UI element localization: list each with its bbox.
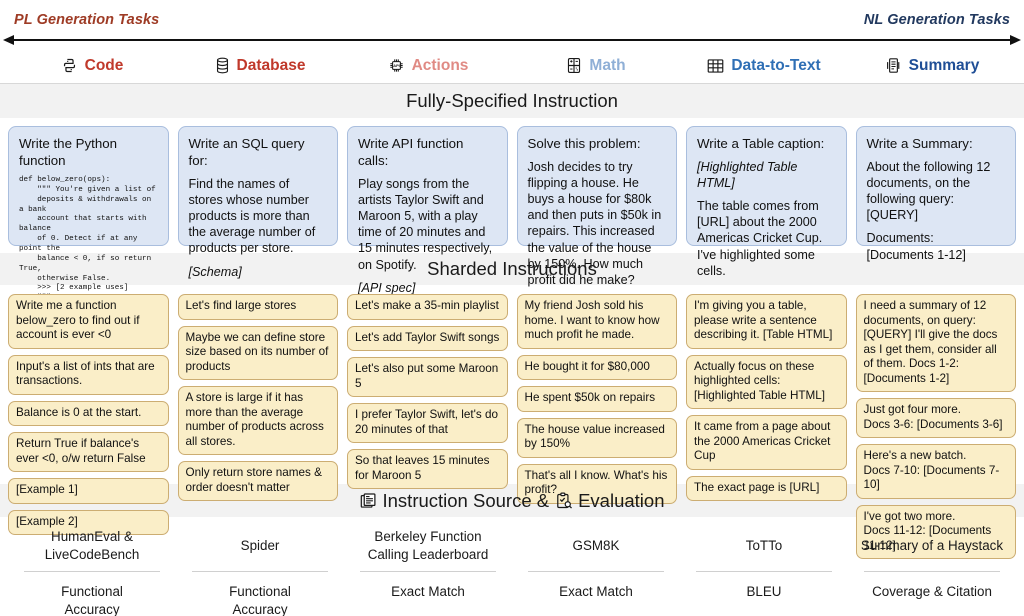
column-header-data-to-text[interactable]: Data-to-Text bbox=[680, 48, 848, 83]
sharded-col-database: Let's find large storesMaybe we can defi… bbox=[178, 294, 339, 476]
shard-bubble[interactable]: So that leaves 15 minutes for Maroon 5 bbox=[347, 449, 508, 489]
sharded-col-code: Write me a function below_zero to find o… bbox=[8, 294, 169, 476]
evaluation-metric: Functional Accuracy bbox=[20, 572, 164, 616]
column-label-summary: Summary bbox=[909, 57, 980, 75]
section-title-evaluation: Evaluation bbox=[578, 490, 664, 512]
shard-bubble[interactable]: Here's a new batch. Docs 7-10: [Document… bbox=[856, 444, 1017, 499]
shard-bubble[interactable]: Only return store names & order doesn't … bbox=[178, 461, 339, 501]
section-title-sharded: Sharded Instructions bbox=[427, 258, 597, 280]
sharded-grid: Write me a function below_zero to find o… bbox=[0, 285, 1024, 484]
column-header-actions[interactable]: API Actions bbox=[344, 48, 512, 83]
evaluation-metric: BLEU bbox=[692, 572, 836, 601]
column-label-code: Code bbox=[85, 57, 124, 75]
instruction-card[interactable]: Solve this problem: Josh decides to try … bbox=[517, 126, 678, 246]
shard-bubble[interactable]: Let's add Taylor Swift songs bbox=[347, 326, 508, 352]
evaluation-metric: Exact Match bbox=[524, 572, 668, 601]
database-icon bbox=[215, 57, 230, 74]
fs-col-data-to-text: Write a Table caption: [Highlighted Tabl… bbox=[686, 126, 847, 246]
section-title-fully-specified: Fully-Specified Instruction bbox=[406, 90, 618, 112]
sharded-col-summary: I need a summary of 12 documents, on que… bbox=[856, 294, 1017, 476]
card-body-line: About the following 12 documents, on the… bbox=[867, 159, 1006, 223]
section-title-instruction-source: Instruction Source & bbox=[383, 490, 550, 512]
shard-bubble[interactable]: I need a summary of 12 documents, on que… bbox=[856, 294, 1017, 392]
axis-label-pl: PL Generation Tasks bbox=[14, 12, 159, 28]
calculator-icon bbox=[566, 57, 582, 74]
shard-bubble[interactable]: Write me a function below_zero to find o… bbox=[8, 294, 169, 349]
shard-bubble[interactable]: Actually focus on these highlighted cell… bbox=[686, 355, 847, 410]
eval-col-code: HumanEval & LiveCodeBench Functional Acc… bbox=[8, 523, 176, 616]
shard-bubble[interactable]: Balance is 0 at the start. bbox=[8, 401, 169, 427]
instruction-source: HumanEval & LiveCodeBench bbox=[20, 523, 164, 569]
axis-label-nl: NL Generation Tasks bbox=[864, 12, 1010, 28]
eval-col-math: GSM8K Exact Match bbox=[512, 523, 680, 616]
clipboard-check-search-icon bbox=[555, 492, 573, 510]
shard-bubble[interactable]: It came from a page about the 2000 Ameri… bbox=[686, 415, 847, 470]
eval-col-database: Spider Functional Accuracy bbox=[176, 523, 344, 616]
card-body-line: [API spec] bbox=[358, 281, 415, 295]
fs-col-summary: Write a Summary: About the following 12 … bbox=[856, 126, 1017, 246]
instruction-source: Summary of a Haystack bbox=[860, 523, 1004, 569]
shard-bubble[interactable]: Input's a list of ints that are transact… bbox=[8, 355, 169, 395]
sharded-col-math: My friend Josh sold his home. I want to … bbox=[517, 294, 678, 476]
shard-bubble[interactable]: He spent $50k on repairs bbox=[517, 386, 678, 412]
sharded-col-data-to-text: I'm giving you a table, please write a s… bbox=[686, 294, 847, 476]
fs-col-math: Solve this problem: Josh decides to try … bbox=[517, 126, 678, 246]
fully-specified-grid: Write the Python function def below_zero… bbox=[0, 118, 1024, 253]
shard-bubble[interactable]: He bought it for $80,000 bbox=[517, 355, 678, 381]
shard-bubble[interactable]: Just got four more. Docs 3-6: [Documents… bbox=[856, 398, 1017, 438]
evaluation-grid: HumanEval & LiveCodeBench Functional Acc… bbox=[0, 517, 1024, 616]
shard-bubble[interactable]: A store is large if it has more than the… bbox=[178, 386, 339, 455]
instruction-card[interactable]: Write an SQL query for: Find the names o… bbox=[178, 126, 339, 246]
evaluation-metric: Exact Match bbox=[356, 572, 500, 601]
task-spectrum-axis: PL Generation Tasks NL Generation Tasks bbox=[0, 0, 1024, 48]
card-body-line: Find the names of stores whose number pr… bbox=[189, 176, 328, 257]
card-header: Write the Python function bbox=[19, 135, 158, 169]
api-chip-icon: API bbox=[388, 57, 405, 74]
shard-bubble[interactable]: The house value increased by 150% bbox=[517, 418, 678, 458]
card-header: Write a Summary: bbox=[867, 135, 1006, 152]
card-header: Solve this problem: bbox=[528, 135, 667, 152]
card-header: Write API function calls: bbox=[358, 135, 497, 169]
evaluation-metric: Coverage & Citation bbox=[860, 572, 1004, 601]
column-header-math[interactable]: Math bbox=[512, 48, 680, 83]
eval-col-actions: Berkeley Function Calling Leaderboard Ex… bbox=[344, 523, 512, 616]
shard-bubble[interactable]: Let's also put some Maroon 5 bbox=[347, 357, 508, 397]
evaluation-metric: Functional Accuracy bbox=[188, 572, 332, 616]
column-header-summary[interactable]: Summary bbox=[848, 48, 1016, 83]
column-label-actions: Actions bbox=[412, 57, 469, 75]
instruction-card[interactable]: Write a Table caption: [Highlighted Tabl… bbox=[686, 126, 847, 246]
section-band-fully-specified: Fully-Specified Instruction bbox=[0, 84, 1024, 118]
python-logo-icon bbox=[61, 57, 78, 74]
shard-bubble[interactable]: Maybe we can define store size based on … bbox=[178, 326, 339, 381]
column-label-database: Database bbox=[237, 57, 306, 75]
column-header-code[interactable]: Code bbox=[8, 48, 176, 83]
double-arrow-icon bbox=[14, 39, 1010, 41]
shard-bubble[interactable]: My friend Josh sold his home. I want to … bbox=[517, 294, 678, 349]
fs-col-actions: Write API function calls: Play songs fro… bbox=[347, 126, 508, 246]
shard-bubble[interactable]: Return True if balance's ever <0, o/w re… bbox=[8, 432, 169, 472]
shard-bubble[interactable]: I prefer Taylor Swift, let's do 20 minut… bbox=[347, 403, 508, 443]
figure-root: PL Generation Tasks NL Generation Tasks … bbox=[0, 0, 1024, 616]
column-label-math: Math bbox=[589, 57, 625, 75]
instruction-source: GSM8K bbox=[524, 523, 668, 569]
instruction-source: Berkeley Function Calling Leaderboard bbox=[356, 523, 500, 569]
instruction-card[interactable]: Write a Summary: About the following 12 … bbox=[856, 126, 1017, 246]
eval-col-summary: Summary of a Haystack Coverage & Citatio… bbox=[848, 523, 1016, 616]
fs-col-database: Write an SQL query for: Find the names o… bbox=[178, 126, 339, 246]
shard-bubble[interactable]: Let's make a 35-min playlist bbox=[347, 294, 508, 320]
instruction-source: Spider bbox=[188, 523, 332, 569]
shard-bubble[interactable]: Let's find large stores bbox=[178, 294, 339, 320]
card-body-line: The table comes from [URL] about the 200… bbox=[697, 198, 836, 279]
shard-bubble[interactable]: [Example 1] bbox=[8, 478, 169, 504]
newspaper-icon bbox=[360, 492, 378, 510]
column-label-data-to-text: Data-to-Text bbox=[731, 57, 820, 75]
document-icon bbox=[885, 57, 902, 74]
instruction-source: ToTTo bbox=[692, 523, 836, 569]
column-header-database[interactable]: Database bbox=[176, 48, 344, 83]
svg-text:API: API bbox=[393, 63, 399, 68]
eval-col-data-to-text: ToTTo BLEU bbox=[680, 523, 848, 616]
shard-bubble[interactable]: The exact page is [URL] bbox=[686, 476, 847, 502]
instruction-card[interactable]: Write the Python function def below_zero… bbox=[8, 126, 169, 246]
card-header: Write an SQL query for: bbox=[189, 135, 328, 169]
task-column-headers: Code Database API bbox=[0, 48, 1024, 84]
card-body-line: [Highlighted Table HTML] bbox=[697, 160, 797, 190]
shard-bubble[interactable]: I'm giving you a table, please write a s… bbox=[686, 294, 847, 349]
fs-col-code: Write the Python function def below_zero… bbox=[8, 126, 169, 246]
code-block: def below_zero(ops): """ You're given a … bbox=[19, 176, 158, 304]
card-body-line: [Schema] bbox=[189, 265, 242, 279]
table-grid-icon bbox=[707, 58, 724, 74]
sharded-col-actions: Let's make a 35-min playlistLet's add Ta… bbox=[347, 294, 508, 476]
card-body-line: Documents: [Documents 1-12] bbox=[867, 230, 1006, 262]
card-header: Write a Table caption: bbox=[697, 135, 836, 152]
instruction-card[interactable]: Write API function calls: Play songs fro… bbox=[347, 126, 508, 246]
